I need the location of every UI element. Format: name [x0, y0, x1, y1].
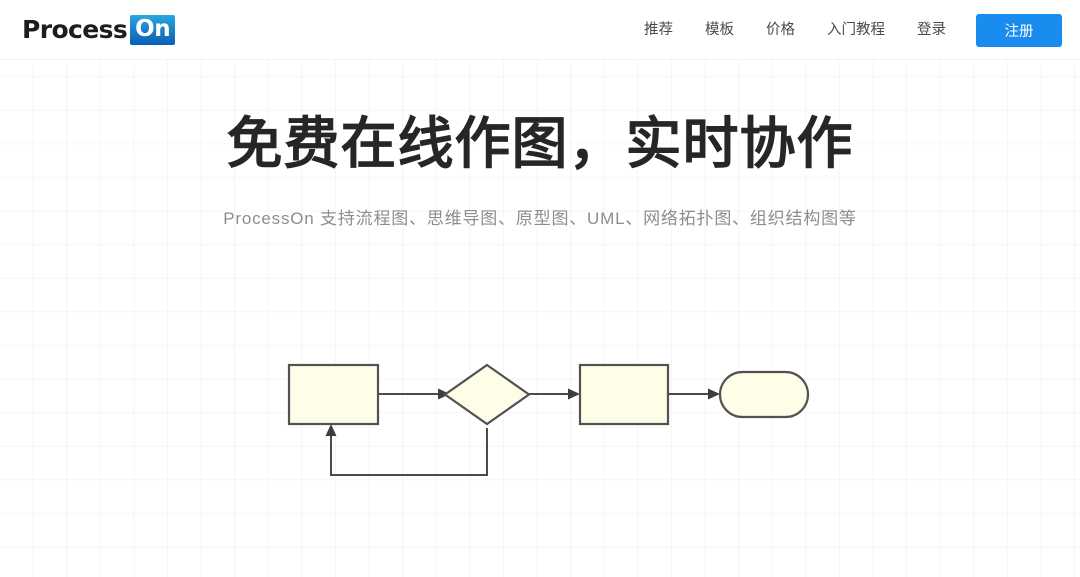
signup-button[interactable]: 注册: [976, 14, 1062, 47]
process-box-2[interactable]: [580, 365, 668, 424]
nav-item-recommend[interactable]: 推荐: [628, 0, 689, 60]
main-navigation: 推荐 模板 价格 入门教程 登录 注册: [628, 0, 1062, 60]
nav-item-login[interactable]: 登录: [901, 0, 962, 60]
flowchart-illustration: [0, 340, 1080, 510]
logo-text-on: On: [135, 18, 170, 41]
page-canvas: Process On 推荐 模板 价格 入门教程 登录 注册 免费在线作图，实时…: [0, 0, 1080, 577]
process-box-1[interactable]: [289, 365, 378, 424]
nav-item-tutorial[interactable]: 入门教程: [811, 0, 901, 60]
nav-item-templates[interactable]: 模板: [689, 0, 750, 60]
nav-item-pricing[interactable]: 价格: [750, 0, 811, 60]
page-subtitle: ProcessOn 支持流程图、思维导图、原型图、UML、网络拓扑图、组织结构图…: [0, 204, 1080, 229]
logo-accent-box: On: [130, 15, 175, 45]
header-divider: [0, 59, 1080, 60]
page-title: 免费在线作图，实时协作: [0, 112, 1080, 176]
edge-diamond-loopback-to-box1: [326, 424, 488, 475]
flowchart-svg: [0, 340, 1080, 510]
decision-diamond[interactable]: [445, 365, 529, 424]
terminator-pill[interactable]: [720, 372, 808, 417]
edge-diamond-to-box2: [528, 389, 580, 400]
processon-logo[interactable]: Process On: [22, 13, 175, 47]
logo-text-process: Process: [22, 17, 127, 44]
hero-section: 免费在线作图，实时协作 ProcessOn 支持流程图、思维导图、原型图、UML…: [0, 60, 1080, 229]
edge-box2-to-terminator: [668, 389, 720, 400]
site-header: Process On 推荐 模板 价格 入门教程 登录 注册: [0, 0, 1080, 60]
edge-box1-to-diamond: [378, 389, 450, 400]
